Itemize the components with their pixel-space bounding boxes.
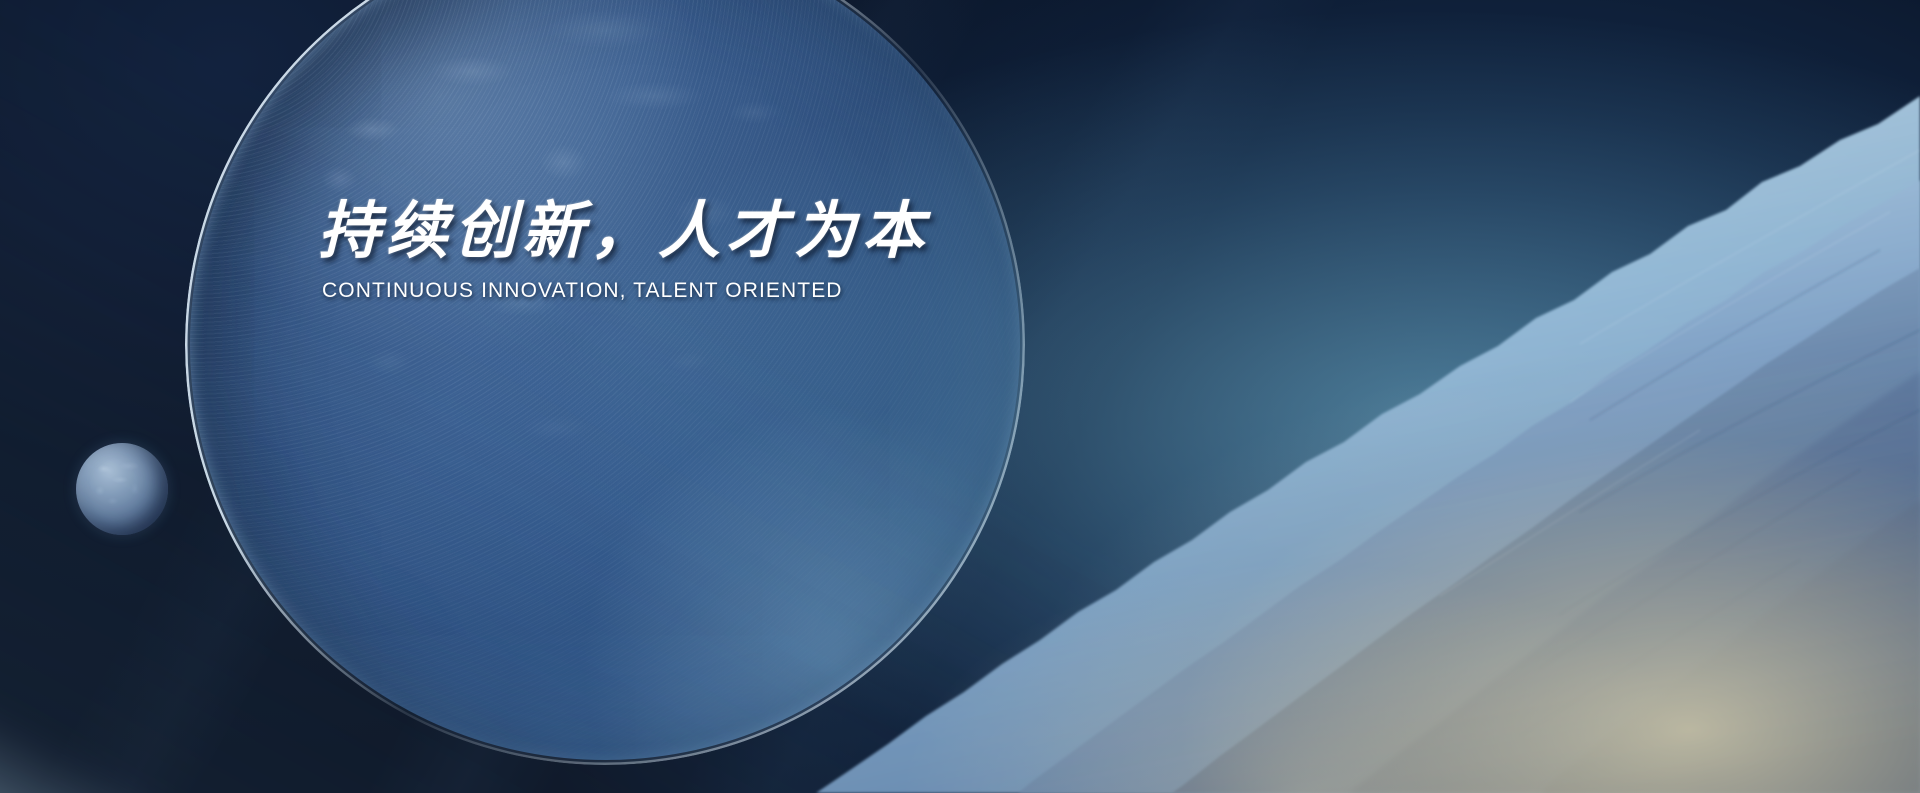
- planet-atmosphere-rim: [185, 0, 1025, 765]
- hero-subheadline-english: CONTINUOUS INNOVATION, TALENT ORIENTED: [322, 279, 1218, 303]
- large-planet: [190, 0, 1020, 760]
- small-moon: [76, 443, 168, 535]
- hero-headline-chinese: 持续创新，人才为本: [318, 196, 1218, 265]
- hero-copy: 持续创新，人才为本 CONTINUOUS INNOVATION, TALENT …: [318, 196, 1218, 303]
- moon-surface-texture: [76, 443, 168, 535]
- hero-banner: 持续创新，人才为本 CONTINUOUS INNOVATION, TALENT …: [0, 0, 1920, 793]
